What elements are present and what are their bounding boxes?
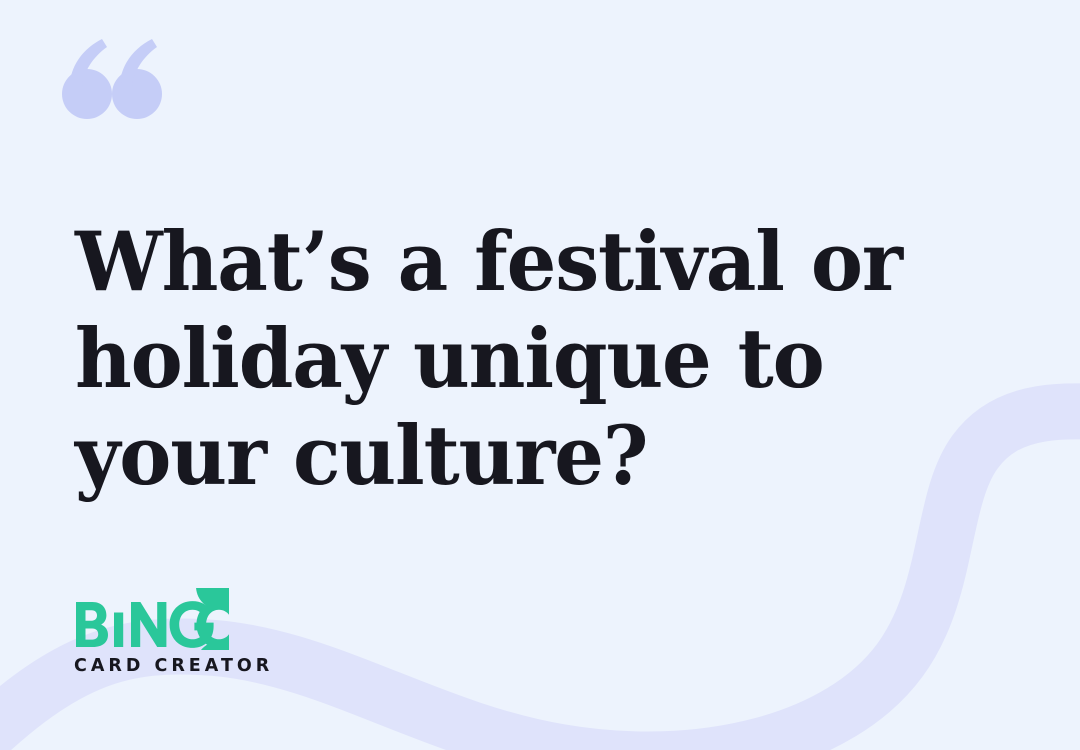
quote-mark-icon — [62, 38, 162, 124]
page-title: What’s a festival or holiday unique to y… — [75, 214, 924, 505]
bingo-wordmark-icon — [74, 588, 229, 650]
logo-tagline: CARD CREATOR — [74, 656, 273, 676]
quote-card: What’s a festival or holiday unique to y… — [0, 0, 1080, 750]
logo-letter-n — [131, 602, 166, 647]
logo-letter-i — [114, 613, 123, 648]
brand-logo[interactable]: CARD CREATOR — [74, 588, 273, 676]
logo-letter-b — [76, 602, 108, 647]
